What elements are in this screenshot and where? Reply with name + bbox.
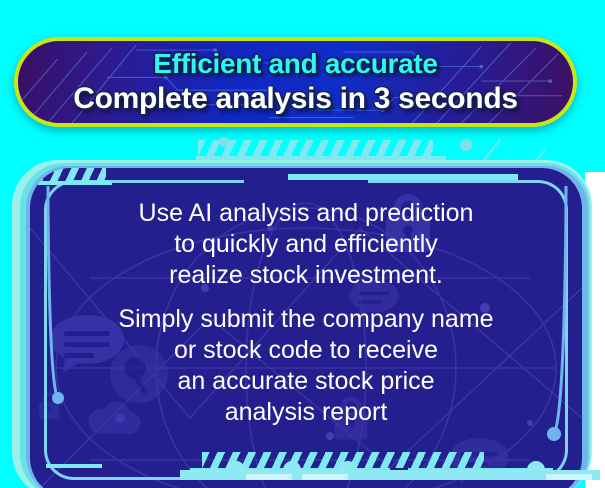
- info-card: Use AI analysis and prediction to quickl…: [30, 168, 582, 488]
- banner-title-line2: Complete analysis in 3 seconds: [73, 82, 518, 116]
- accent-bar: [46, 464, 102, 468]
- accent-bar: [288, 174, 518, 180]
- card-copy: Use AI analysis and prediction to quickl…: [30, 198, 582, 428]
- p1-line1: Use AI analysis and prediction: [30, 198, 582, 229]
- paragraph-two: Simply submit the company name or stock …: [30, 304, 582, 428]
- hash-stripe-bar: [198, 140, 433, 156]
- banner-title-line1: Efficient and accurate: [153, 49, 437, 79]
- p2-line2: or stock code to receive: [30, 335, 582, 366]
- bottom-connector-bar: [180, 458, 600, 488]
- p2-line3: an accurate stock price: [30, 366, 582, 397]
- p2-line1: Simply submit the company name: [30, 304, 582, 335]
- p1-line2: to quickly and efficiently: [30, 229, 582, 260]
- paragraph-one: Use AI analysis and prediction to quickl…: [30, 198, 582, 291]
- promo-graphic: Efficient and accurate Complete analysis…: [0, 0, 605, 488]
- p2-line4: analysis report: [30, 397, 582, 428]
- p1-line3: realize stock investment.: [30, 260, 582, 291]
- headline-banner: Efficient and accurate Complete analysis…: [14, 37, 577, 127]
